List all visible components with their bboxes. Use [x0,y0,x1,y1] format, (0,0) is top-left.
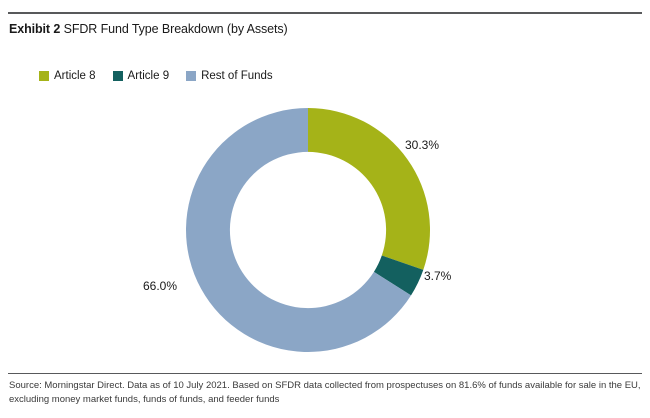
legend-swatch-icon [39,71,49,81]
exhibit-figure: Exhibit 2 SFDR Fund Type Breakdown (by A… [0,0,650,418]
legend-item-label: Rest of Funds [201,70,273,82]
legend-item-label: Article 9 [128,70,170,82]
source-note: Source: Morningstar Direct. Data as of 1… [9,379,643,407]
legend-item-label: Article 8 [54,70,96,82]
exhibit-number: Exhibit 2 [9,22,60,36]
donut-slice[interactable] [308,108,430,270]
legend-swatch-icon [113,71,123,81]
page-title: Exhibit 2 SFDR Fund Type Breakdown (by A… [9,21,288,37]
data-label-rest-of-funds: 66.0% [143,279,177,293]
donut-slice-group [186,108,430,352]
bottom-divider [8,373,642,374]
data-label-article-9: 3.7% [424,269,451,283]
chart-legend: Article 8 Article 9 Rest of Funds [39,70,273,82]
data-label-article-8: 30.3% [405,138,439,152]
top-divider [8,12,642,14]
source-line-1: Source: Morningstar Direct. Data as of 1… [9,379,643,393]
source-line-2: excluding money market funds, funds of f… [9,393,643,407]
donut-chart-svg [186,108,430,352]
legend-item-article-9[interactable]: Article 9 [113,70,170,82]
exhibit-title-text: SFDR Fund Type Breakdown (by Assets) [64,22,288,36]
legend-swatch-icon [186,71,196,81]
legend-item-rest-of-funds[interactable]: Rest of Funds [186,70,273,82]
legend-item-article-8[interactable]: Article 8 [39,70,96,82]
donut-chart [186,108,430,352]
